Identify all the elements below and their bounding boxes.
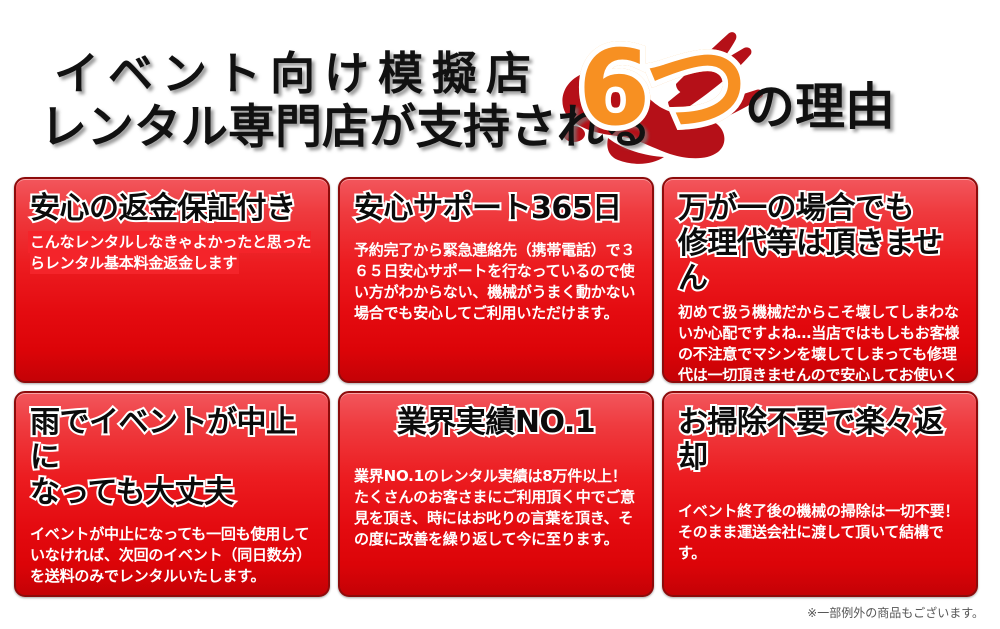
reason-card-no-cleaning: お掃除不要で楽々返却 イベント終了後の機械の掃除は一切不要！ そのまま運送会社に…	[662, 391, 978, 597]
reason-card-heading: 雨でイベントが中止に なっても大丈夫	[30, 405, 314, 510]
reason-card-heading: 安心サポート365日	[354, 191, 638, 226]
reason-card-industry-no1: 業界実績NO.1 業界NO.1のレンタル実績は8万件以上！ たくさんのお客さまに…	[338, 391, 654, 597]
reason-card-support-365: 安心サポート365日 予約完了から緊急連絡先（携帯電話）で３ ６５日安心サポート…	[338, 177, 654, 383]
footnote-disclaimer: ※一部例外の商品もございます。	[807, 604, 984, 621]
title-suffix: の理由	[745, 78, 895, 136]
reason-card-body: 初めて扱う機械だからこそ壊してしまわな いか心配ですよね…当店ではもしもお客様 …	[678, 302, 962, 383]
reason-card-rain-cancellation: 雨でイベントが中止に なっても大丈夫 イベントが中止になっても一回も使用して い…	[14, 391, 330, 597]
reason-card-heading: 業界実績NO.1	[354, 405, 638, 440]
highlight-number-text: 6つ	[578, 27, 742, 149]
reasons-grid: 安心の返金保証付き こんなレンタルしなきゃよかったと思った らレンタル基本料金返…	[14, 177, 986, 597]
reason-card-body: イベントが中止になっても一回も使用して いなければ、次回のイベント（同日数分） …	[30, 524, 314, 587]
highlight-number: 6つ	[578, 36, 742, 140]
reason-card-heading: お掃除不要で楽々返却	[678, 405, 962, 475]
reason-card-no-repair-fee: 万が一の場合でも 修理代等は頂きません 初めて扱う機械だからこそ壊してしまわな …	[662, 177, 978, 383]
title-line-1: イベント向け模擬店	[40, 48, 660, 100]
title-line-2: レンタル専門店が支持される	[40, 100, 660, 156]
reason-card-heading: 安心の返金保証付き	[30, 191, 314, 226]
banner-header: イベント向け模擬店 レンタル専門店が支持される 6つ の理由	[0, 0, 1000, 177]
reason-card-refund-guarantee: 安心の返金保証付き こんなレンタルしなきゃよかったと思った らレンタル基本料金返…	[14, 177, 330, 383]
reason-card-body: 業界NO.1のレンタル実績は8万件以上！ たくさんのお客さまにご利用頂く中でご意…	[354, 466, 638, 550]
title-block: イベント向け模擬店 レンタル専門店が支持される	[40, 48, 660, 156]
reason-card-body: イベント終了後の機械の掃除は一切不要！ そのまま運送会社に渡して頂いて結構で す…	[678, 501, 962, 564]
reason-card-heading: 万が一の場合でも 修理代等は頂きません	[678, 191, 962, 296]
reason-card-body: こんなレンタルしなきゃよかったと思った らレンタル基本料金返金します	[30, 233, 311, 272]
banner-root: イベント向け模擬店 レンタル専門店が支持される 6つ の理由 安心の返金保証付き…	[0, 0, 1000, 629]
reason-card-body: 予約完了から緊急連絡先（携帯電話）で３ ６５日安心サポートを行なっているので使 …	[354, 240, 638, 324]
